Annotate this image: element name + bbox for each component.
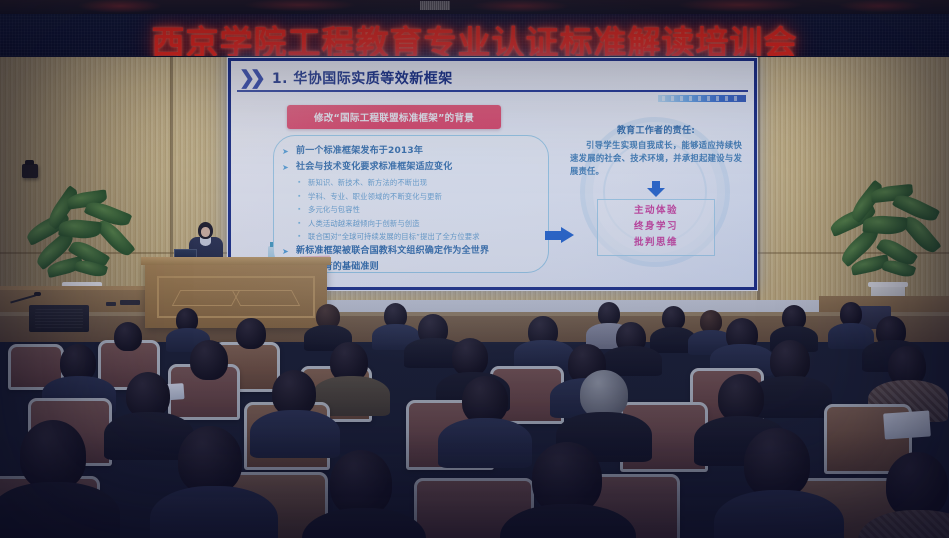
ceiling-vent xyxy=(420,1,450,10)
wall-mounted-spotlight-icon xyxy=(22,164,38,178)
sub-bullet-text: 人类活动越来越倾向于创新与创造 xyxy=(308,218,420,229)
keyword-item: 终身学习 xyxy=(598,219,714,235)
attendee-head xyxy=(744,428,810,498)
sub-bullet-text: 联合国对“全球可持续发展的目标”提出了全方位要求 xyxy=(308,231,480,242)
attendee-shoulders xyxy=(0,482,120,538)
attendee-head xyxy=(462,376,508,424)
sub-bullet-text: 多元化与包容性 xyxy=(308,204,360,215)
bullet-text: 社会与技术变化要求标准框架适应变化 xyxy=(296,161,452,174)
attendee-head xyxy=(114,322,142,351)
bullet-item: ➤ 前一个标准框架发布于2013年 xyxy=(282,145,542,158)
attendee-head xyxy=(580,370,628,418)
attendee-head xyxy=(190,340,228,380)
attendee-head xyxy=(718,374,764,422)
sub-bullet-item: ▪ 新知识、新技术、新方法的不断出现 xyxy=(298,177,542,188)
attendee-head xyxy=(178,426,242,494)
arrow-down-icon xyxy=(647,181,665,197)
sub-bullet-dot-icon: ▪ xyxy=(298,177,304,188)
plant-foliage xyxy=(23,190,141,286)
sub-bullet-item: ▪ 联合国对“全球可持续发展的目标”提出了全方位要求 xyxy=(298,231,542,242)
keyword-box: 主动体验 终身学习 批判思维 xyxy=(597,199,715,256)
sub-bullet-text: 新知识、新技术、新方法的不断出现 xyxy=(308,177,427,188)
sub-bullet-text: 学科、专业、职业领域的不断变化与更新 xyxy=(308,191,442,202)
audience-area xyxy=(0,300,949,538)
sub-bullet-dot-icon: ▪ xyxy=(298,191,304,202)
attendee-head xyxy=(330,450,392,516)
slide-title: 1. 华协国际实质等效新框架 xyxy=(272,68,453,88)
presenter-face xyxy=(201,227,210,237)
sub-bullet-dot-icon: ▪ xyxy=(298,218,304,229)
sub-bullet-item: ▪ 学科、专业、职业领域的不断变化与更新 xyxy=(298,191,542,202)
led-banner-text: 西京学院工程教育专业认证标准解读培训会 xyxy=(0,16,949,58)
bullet-arrow-icon: ➤ xyxy=(282,245,291,258)
attendee-head xyxy=(886,452,948,518)
sub-bullet-dot-icon: ▪ xyxy=(298,231,304,242)
sub-bullet-dot-icon: ▪ xyxy=(298,204,304,215)
lectern-top xyxy=(141,257,331,265)
attendee-shoulders xyxy=(438,418,532,468)
keyword-item: 主动体验 xyxy=(598,203,714,219)
bullet-arrow-icon: ➤ xyxy=(282,161,291,174)
keyword-item: 批判思维 xyxy=(598,235,714,251)
slide-title-row: ❯❯ 1. 华协国际实质等效新框架 xyxy=(237,66,748,92)
bullet-item: ➤ 社会与技术变化要求标准框架适应变化 xyxy=(282,161,542,174)
sub-bullet-group: ▪ 新知识、新技术、新方法的不断出现 ▪ 学科、专业、职业领域的不断变化与更新 … xyxy=(298,177,542,242)
presentation-slide: ❯❯ 1. 华协国际实质等效新框架 修改“国际工程联盟标准框架”的背景 ➤ 前一… xyxy=(228,58,757,290)
attendee-head xyxy=(20,420,86,490)
attendee-shoulders xyxy=(250,410,340,458)
right-panel-heading: 教育工作者的责任: xyxy=(566,123,746,136)
right-panel-paragraph: 引导学生实现自我成长，能够适应持续快速发展的社会、技术环境，并承担起建设与发展责… xyxy=(566,139,746,178)
plant-foliage xyxy=(829,186,947,286)
double-chevron-right-icon: ❯❯ xyxy=(237,69,265,88)
led-banner: 西京学院工程教育专业认证标准解读培训会 xyxy=(0,14,949,58)
sub-bullet-item: ▪ 人类活动越来越倾向于创新与创造 xyxy=(298,218,542,229)
conference-hall-scene: 西京学院工程教育专业认证标准解读培训会 ❯❯ 1. 华协国际实质等效新框架 修改… xyxy=(0,0,949,538)
bullet-text: 前一个标准框架发布于2013年 xyxy=(296,145,423,158)
attendee-shoulders xyxy=(150,486,278,538)
slide-bullet-box: ➤ 前一个标准框架发布于2013年 ➤ 社会与技术变化要求标准框架适应变化 ▪ … xyxy=(273,135,549,273)
attendee-laptop xyxy=(883,410,931,439)
sub-bullet-item: ▪ 多元化与包容性 xyxy=(298,204,542,215)
attendee-head xyxy=(236,318,266,349)
slide-corner-decoration xyxy=(658,95,746,102)
slide-pink-banner: 修改“国际工程联盟标准框架”的背景 xyxy=(287,105,501,129)
potted-plant-right xyxy=(828,186,948,308)
slide-right-panel: 教育工作者的责任: 引导学生实现自我成长，能够适应持续快速发展的社会、技术环境，… xyxy=(566,123,746,275)
attendee-head xyxy=(452,338,488,376)
slide-pink-banner-text: 修改“国际工程联盟标准框架”的背景 xyxy=(314,110,474,124)
bullet-arrow-icon: ➤ xyxy=(282,145,291,158)
